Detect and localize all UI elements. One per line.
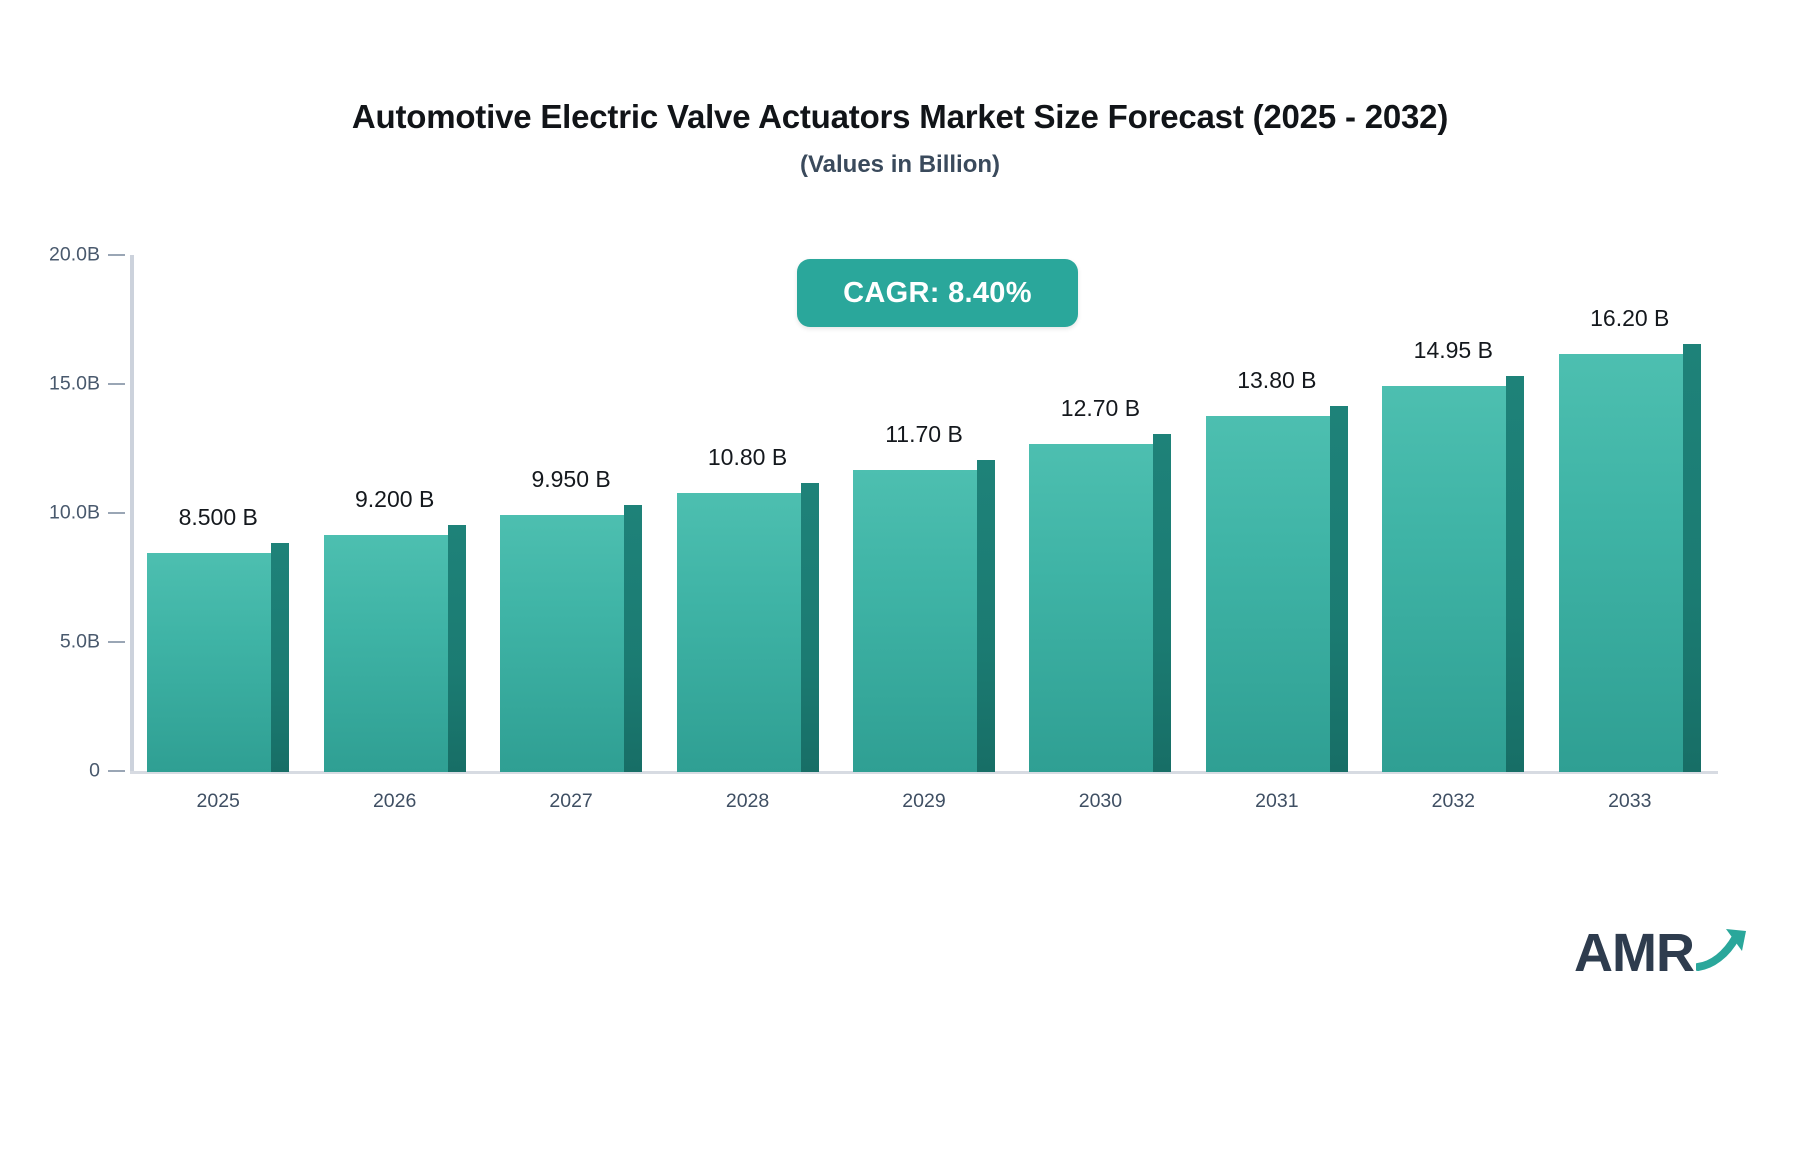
- bar-value-label: 13.80 B: [1206, 367, 1348, 394]
- bar-value-label: 16.20 B: [1559, 305, 1701, 332]
- bar-2028[interactable]: 10.80 B: [677, 250, 819, 772]
- amr-logo: AMR: [1574, 925, 1752, 980]
- x-axis-tick-label: 2032: [1365, 790, 1541, 813]
- y-axis-tick-label: 10.0B: [0, 502, 100, 525]
- bar-side-face: [271, 543, 289, 772]
- bar-front-face: [324, 535, 448, 772]
- bar-2026[interactable]: 9.200 B: [324, 250, 466, 772]
- bar-side-face: [448, 525, 466, 772]
- x-axis-tick-label: 2030: [1012, 790, 1188, 813]
- bar-value-label: 11.70 B: [853, 421, 995, 448]
- bar-side-face: [977, 460, 995, 772]
- bar-2031[interactable]: 13.80 B: [1206, 250, 1348, 772]
- y-axis-tick-mark: [108, 641, 125, 643]
- bar-value-label: 12.70 B: [1029, 395, 1171, 422]
- bar-chart-plot: 05.0B10.0B15.0B20.0B 8.500 B9.200 B9.950…: [0, 0, 1800, 1156]
- x-axis-tick-label: 2033: [1542, 790, 1718, 813]
- bar-2030[interactable]: 12.70 B: [1029, 250, 1171, 772]
- bar-value-label: 9.200 B: [324, 486, 466, 513]
- bar-side-face: [1153, 434, 1171, 772]
- bar-side-face: [801, 483, 819, 772]
- y-axis-tick-mark: [108, 254, 125, 256]
- y-axis-tick-label: 0: [0, 760, 100, 783]
- x-axis-tick-label: 2026: [306, 790, 482, 813]
- bar-front-face: [1029, 444, 1153, 772]
- bar-front-face: [1559, 354, 1683, 772]
- bar-2025[interactable]: 8.500 B: [147, 250, 289, 772]
- bar-front-face: [147, 553, 271, 772]
- bar-value-label: 10.80 B: [677, 444, 819, 471]
- bar-side-face: [1683, 344, 1701, 772]
- bar-front-face: [1382, 386, 1506, 772]
- bar-side-face: [624, 505, 642, 772]
- bar-value-label: 14.95 B: [1382, 337, 1524, 364]
- bars-group: 8.500 B9.200 B9.950 B10.80 B11.70 B12.70…: [130, 250, 1720, 772]
- y-axis-tick-label: 5.0B: [0, 631, 100, 654]
- y-axis-tick-label: 15.0B: [0, 373, 100, 396]
- bar-front-face: [853, 470, 977, 772]
- y-axis-tick-mark: [108, 383, 125, 385]
- x-axis-tick-label: 2027: [483, 790, 659, 813]
- bar-2029[interactable]: 11.70 B: [853, 250, 995, 772]
- y-axis-tick-mark: [108, 770, 125, 772]
- bar-front-face: [500, 515, 624, 772]
- x-axis-tick-label: 2025: [130, 790, 306, 813]
- bar-2033[interactable]: 16.20 B: [1559, 250, 1701, 772]
- bar-front-face: [1206, 416, 1330, 772]
- bar-front-face: [677, 493, 801, 772]
- arrow-up-right-icon: [1696, 925, 1752, 976]
- bar-value-label: 8.500 B: [147, 504, 289, 531]
- bar-side-face: [1506, 376, 1524, 772]
- bar-2032[interactable]: 14.95 B: [1382, 250, 1524, 772]
- x-axis-tick-label: 2029: [836, 790, 1012, 813]
- x-axis-tick-label: 2028: [659, 790, 835, 813]
- y-axis-tick-label: 20.0B: [0, 244, 100, 267]
- amr-logo-text: AMR: [1574, 926, 1694, 980]
- y-axis-tick-mark: [108, 512, 125, 514]
- bar-side-face: [1330, 406, 1348, 772]
- bar-2027[interactable]: 9.950 B: [500, 250, 642, 772]
- bar-value-label: 9.950 B: [500, 466, 642, 493]
- x-axis-tick-label: 2031: [1189, 790, 1365, 813]
